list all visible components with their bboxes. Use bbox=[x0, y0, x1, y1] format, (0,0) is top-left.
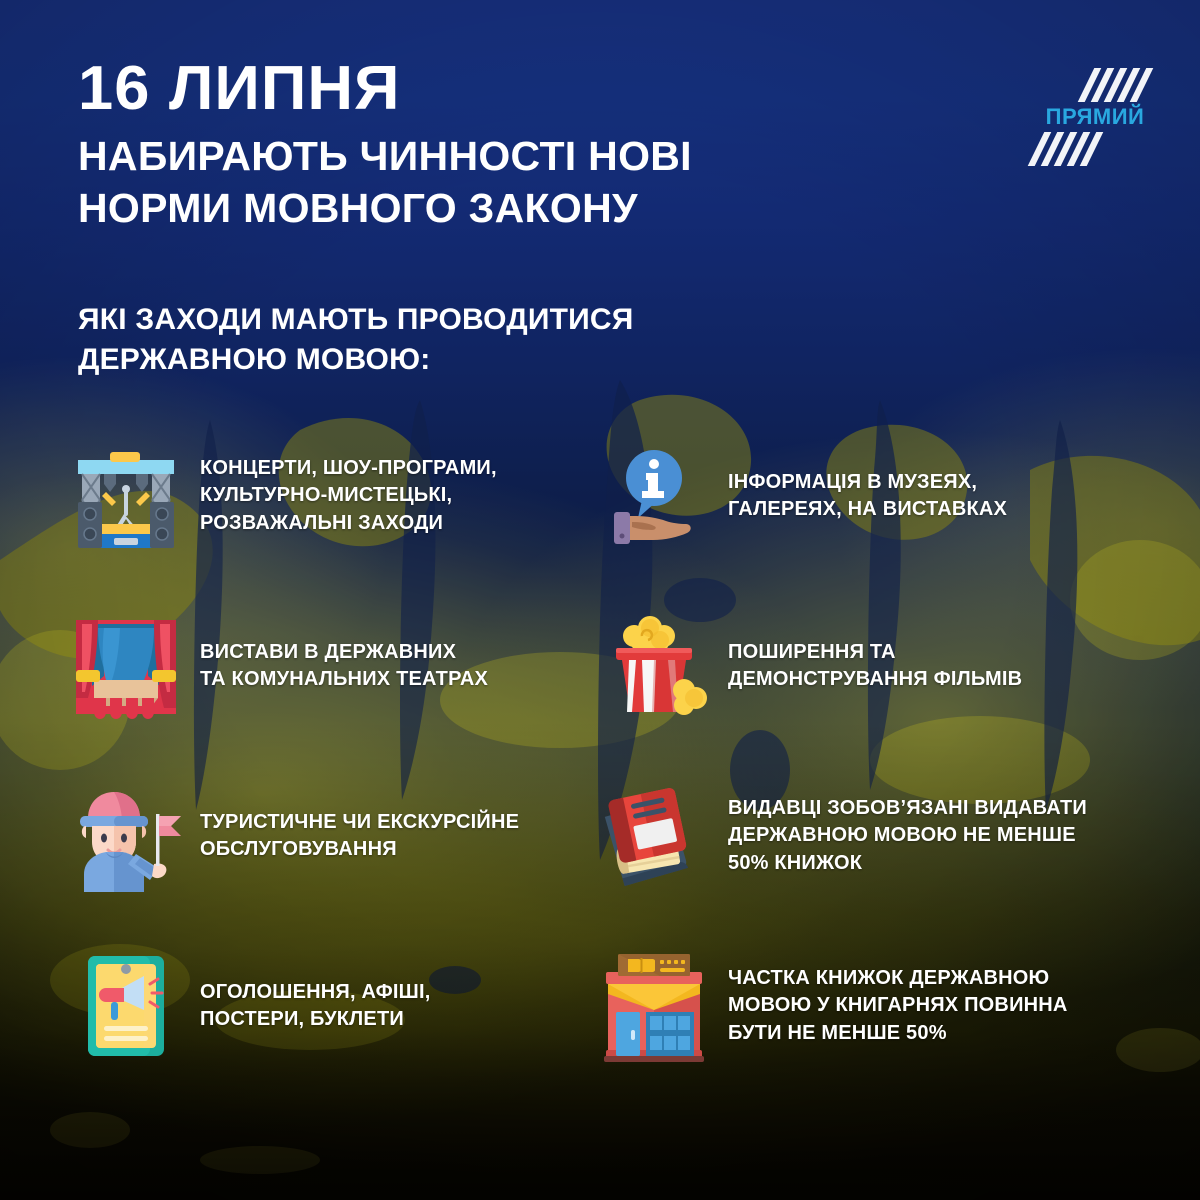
list-item-line: ВИДАВЦІ ЗОБОВ’ЯЗАНІ ВИДАВАТИ bbox=[728, 795, 1087, 822]
page-title-date: 16 ЛИПНЯ bbox=[78, 58, 1037, 120]
list-item-films: ПОШИРЕННЯ ТА ДЕМОНСТРУВАННЯ ФІЛЬМІВ bbox=[598, 610, 1158, 722]
list-item-line: ТУРИСТИЧНЕ ЧИ ЕКСКУРСІЙНЕ bbox=[200, 809, 519, 836]
list-item-line: ОБСЛУГОВУВАННЯ bbox=[200, 836, 519, 863]
headline-line-1: НАБИРАЮТЬ ЧИННОСТІ НОВІ bbox=[78, 130, 1018, 182]
subheading: ЯКІ ЗАХОДИ МАЮТЬ ПРОВОДИТИСЯ ДЕРЖАВНОЮ М… bbox=[78, 300, 978, 380]
list-item-publishers: ВИДАВЦІ ЗОБОВ’ЯЗАНІ ВИДАВАТИ ДЕРЖАВНОЮ М… bbox=[598, 780, 1158, 892]
list-item-line: ПОШИРЕННЯ ТА bbox=[728, 639, 1022, 666]
list-item-line: КОНЦЕРТИ, ШОУ-ПРОГРАМИ, bbox=[200, 455, 497, 482]
logo-wordmark: ПРЯМИЙ bbox=[1030, 104, 1160, 130]
list-item-line: ЧАСТКА КНИЖОК ДЕРЖАВНОЮ bbox=[728, 965, 1068, 992]
list-item-line: ТА КОМУНАЛЬНИХ ТЕАТРАХ bbox=[200, 666, 488, 693]
tour-guide-icon bbox=[70, 780, 182, 892]
list-item-line: ГАЛЕРЕЯХ, НА ВИСТАВКАХ bbox=[728, 496, 1007, 523]
list-item-tourism: ТУРИСТИЧНЕ ЧИ ЕКСКУРСІЙНЕ ОБСЛУГОВУВАННЯ bbox=[70, 780, 590, 892]
list-item-line: МОВОЮ У КНИГАРНЯХ ПОВИННА bbox=[728, 992, 1068, 1019]
list-row: ТУРИСТИЧНЕ ЧИ ЕКСКУРСІЙНЕ ОБСЛУГОВУВАННЯ bbox=[0, 780, 1200, 950]
information-hand-icon bbox=[598, 440, 710, 552]
requirements-list: КОНЦЕРТИ, ШОУ-ПРОГРАМИ, КУЛЬТУРНО-МИСТЕЦ… bbox=[0, 440, 1200, 1120]
list-item-line: ОГОЛОШЕННЯ, АФІШІ, bbox=[200, 979, 430, 1006]
list-item-label: ПОШИРЕННЯ ТА ДЕМОНСТРУВАННЯ ФІЛЬМІВ bbox=[728, 639, 1022, 693]
list-item-label: ТУРИСТИЧНЕ ЧИ ЕКСКУРСІЙНЕ ОБСЛУГОВУВАННЯ bbox=[200, 809, 519, 863]
list-item-line: ДЕРЖАВНОЮ МОВОЮ НЕ МЕНШЕ bbox=[728, 822, 1087, 849]
list-item-line: ДЕМОНСТРУВАННЯ ФІЛЬМІВ bbox=[728, 666, 1022, 693]
list-row: ВИСТАВИ В ДЕРЖАВНИХ ТА КОМУНАЛЬНИХ ТЕАТР… bbox=[0, 610, 1200, 780]
infographic-poster: ПРЯМИЙ 16 ЛИПНЯ НАБИРАЮТЬ ЧИННОСТІ НОВІ … bbox=[0, 0, 1200, 1200]
list-item-museum-information: ІНФОРМАЦІЯ В МУЗЕЯХ, ГАЛЕРЕЯХ, НА ВИСТАВ… bbox=[598, 440, 1158, 552]
headline-line-2: НОРМИ МОВНОГО ЗАКОНУ bbox=[78, 182, 1018, 234]
list-item-label: ВИДАВЦІ ЗОБОВ’ЯЗАНІ ВИДАВАТИ ДЕРЖАВНОЮ М… bbox=[728, 795, 1087, 877]
list-item-label: ВИСТАВИ В ДЕРЖАВНИХ ТА КОМУНАЛЬНИХ ТЕАТР… bbox=[200, 639, 488, 693]
bookstore-icon bbox=[598, 950, 710, 1062]
list-item-bookstores: ЧАСТКА КНИЖОК ДЕРЖАВНОЮ МОВОЮ У КНИГАРНЯ… bbox=[598, 950, 1158, 1062]
list-item-line: КУЛЬТУРНО-МИСТЕЦЬКІ, bbox=[200, 482, 497, 509]
logo-stripes-top-icon bbox=[1086, 68, 1156, 102]
list-row: ОГОЛОШЕННЯ, АФІШІ, ПОСТЕРИ, БУКЛЕТИ bbox=[0, 950, 1200, 1120]
logo-stripes-bottom-icon bbox=[1036, 132, 1106, 166]
list-item-line: 50% КНИЖОК bbox=[728, 850, 1087, 877]
list-item-concerts: КОНЦЕРТИ, ШОУ-ПРОГРАМИ, КУЛЬТУРНО-МИСТЕЦ… bbox=[70, 440, 590, 552]
prymiy-logo[interactable]: ПРЯМИЙ bbox=[1030, 62, 1160, 172]
subheading-line-2: ДЕРЖАВНОЮ МОВОЮ: bbox=[78, 340, 978, 380]
books-icon bbox=[598, 780, 710, 892]
list-item-theatres: ВИСТАВИ В ДЕРЖАВНИХ ТА КОМУНАЛЬНИХ ТЕАТР… bbox=[70, 610, 590, 722]
announcement-megaphone-icon bbox=[70, 950, 182, 1062]
list-item-label: ІНФОРМАЦІЯ В МУЗЕЯХ, ГАЛЕРЕЯХ, НА ВИСТАВ… bbox=[728, 469, 1007, 523]
list-item-line: ПОСТЕРИ, БУКЛЕТИ bbox=[200, 1006, 430, 1033]
list-item-label: ЧАСТКА КНИЖОК ДЕРЖАВНОЮ МОВОЮ У КНИГАРНЯ… bbox=[728, 965, 1068, 1047]
list-item-line: ВИСТАВИ В ДЕРЖАВНИХ bbox=[200, 639, 488, 666]
concert-stage-icon bbox=[70, 440, 182, 552]
list-item-line: ІНФОРМАЦІЯ В МУЗЕЯХ, bbox=[728, 469, 1007, 496]
theatre-curtain-icon bbox=[70, 610, 182, 722]
headline: НАБИРАЮТЬ ЧИННОСТІ НОВІ НОРМИ МОВНОГО ЗА… bbox=[78, 130, 1018, 235]
header-block: 16 ЛИПНЯ НАБИРАЮТЬ ЧИННОСТІ НОВІ НОРМИ М… bbox=[78, 58, 1018, 235]
list-row: КОНЦЕРТИ, ШОУ-ПРОГРАМИ, КУЛЬТУРНО-МИСТЕЦ… bbox=[0, 440, 1200, 610]
list-item-label: ОГОЛОШЕННЯ, АФІШІ, ПОСТЕРИ, БУКЛЕТИ bbox=[200, 979, 430, 1033]
list-item-label: КОНЦЕРТИ, ШОУ-ПРОГРАМИ, КУЛЬТУРНО-МИСТЕЦ… bbox=[200, 455, 497, 537]
list-item-line: РОЗВАЖАЛЬНІ ЗАХОДИ bbox=[200, 510, 497, 537]
popcorn-icon bbox=[598, 610, 710, 722]
subheading-line-1: ЯКІ ЗАХОДИ МАЮТЬ ПРОВОДИТИСЯ bbox=[78, 300, 978, 340]
list-item-line: БУТИ НЕ МЕНШЕ 50% bbox=[728, 1020, 1068, 1047]
list-item-announcements: ОГОЛОШЕННЯ, АФІШІ, ПОСТЕРИ, БУКЛЕТИ bbox=[70, 950, 590, 1062]
